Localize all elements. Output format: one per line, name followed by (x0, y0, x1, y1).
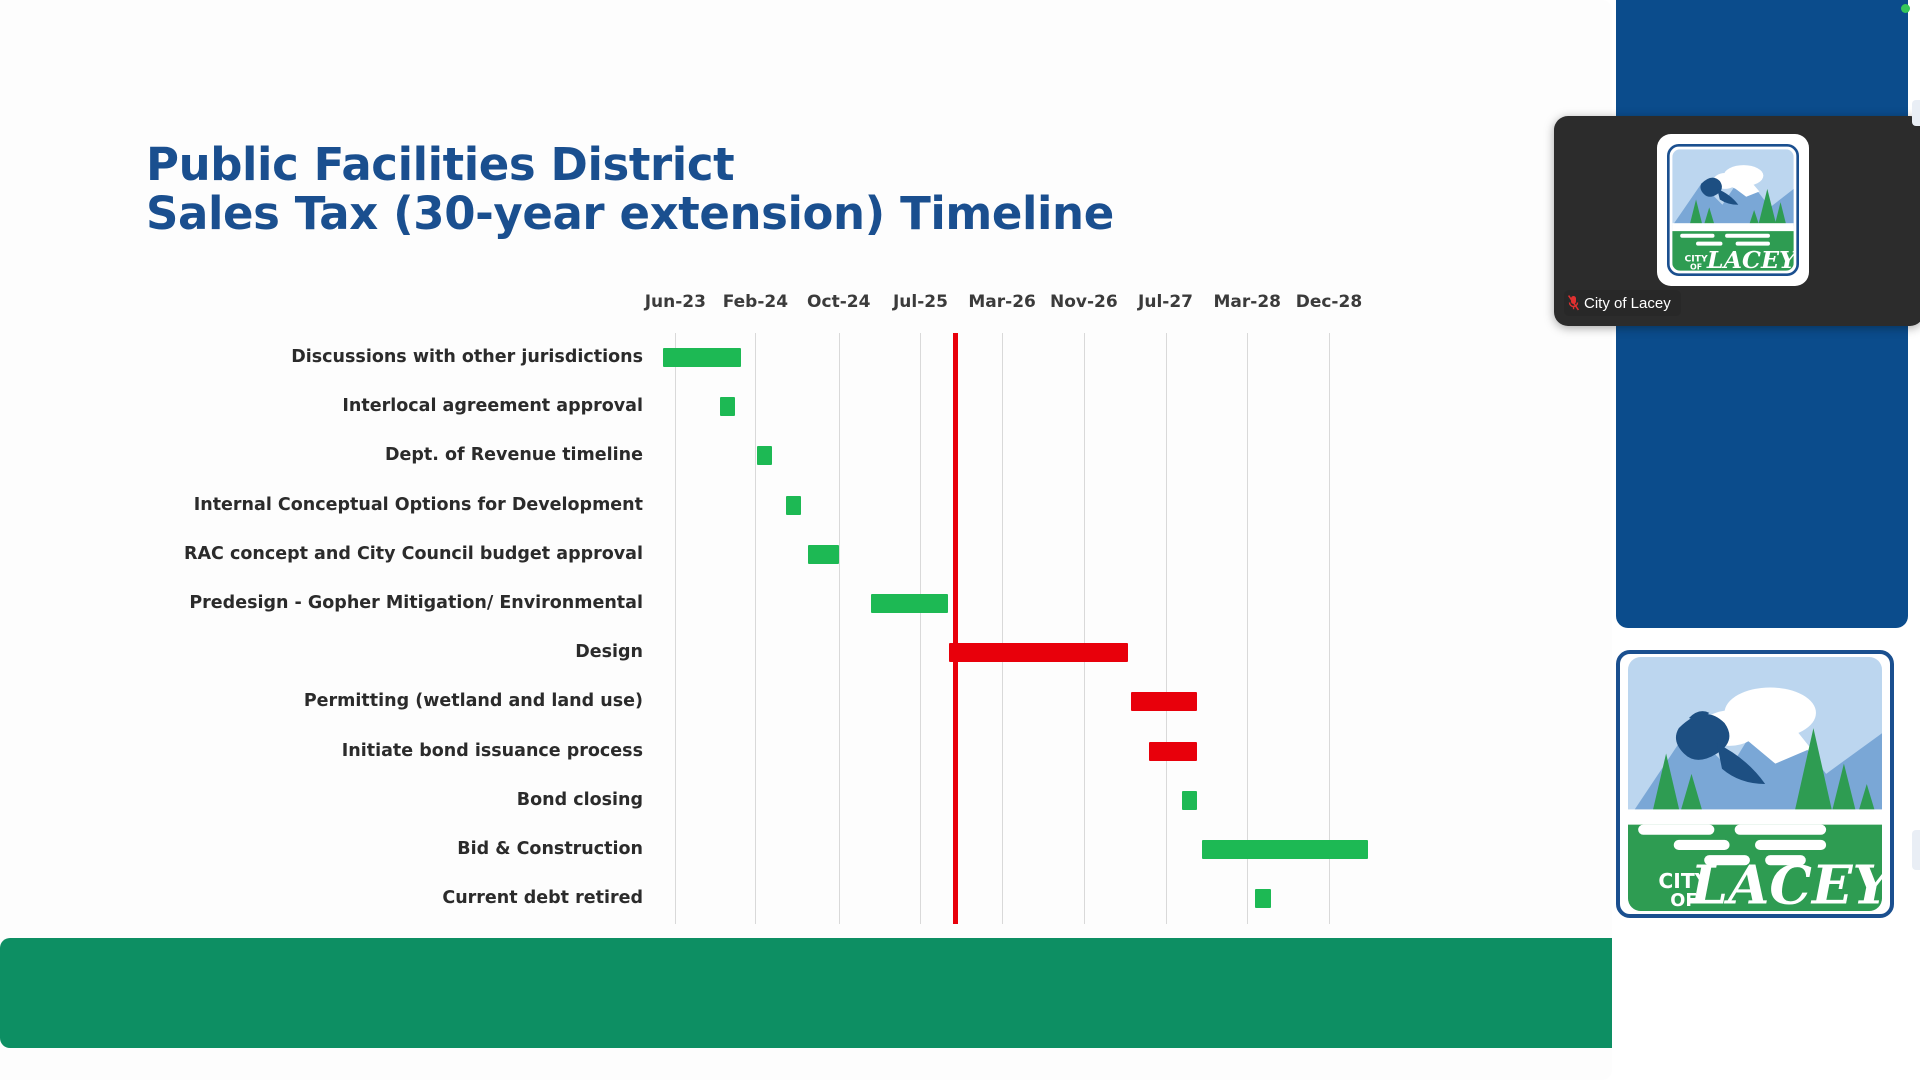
gantt-row (659, 628, 1476, 677)
gantt-row (659, 333, 1476, 382)
gantt-chart: Discussions with other jurisdictionsInte… (146, 286, 1476, 926)
participant-name-label: City of Lacey (1584, 295, 1671, 312)
gantt-axis-tick: Dec-28 (1296, 292, 1362, 312)
gantt-axis-tick: Jun-23 (645, 292, 706, 312)
right-edge-chip-top (1912, 100, 1920, 126)
svg-text:LACEY: LACEY (1706, 246, 1798, 274)
gantt-row (659, 825, 1476, 874)
gantt-bars-area (659, 333, 1476, 924)
gantt-task-label: Predesign - Gopher Mitigation/ Environme… (146, 579, 659, 628)
gantt-bar (757, 446, 772, 465)
gantt-row (659, 530, 1476, 579)
gantt-bar (949, 643, 1128, 662)
gantt-bar (1149, 742, 1196, 761)
video-participant-tile[interactable]: CITY OF LACEY City of Lacey (1554, 116, 1920, 326)
gantt-bar (871, 594, 948, 613)
status-indicator-dot (1901, 4, 1910, 13)
gantt-task-label: Bond closing (146, 776, 659, 825)
logo-text-lacey: LACEY (1689, 853, 1887, 911)
slide-title: Public Facilities District Sales Tax (30… (146, 140, 1266, 238)
gantt-bar (786, 496, 801, 515)
gantt-task-label: Current debt retired (146, 874, 659, 923)
gantt-bar (808, 545, 839, 564)
gantt-task-label: Permitting (wetland and land use) (146, 677, 659, 726)
gantt-row (659, 874, 1476, 923)
gantt-row (659, 481, 1476, 530)
gantt-task-label: Dept. of Revenue timeline (146, 431, 659, 480)
slide-footer-band (0, 938, 1612, 1048)
participant-name-plate: City of Lacey (1564, 290, 1681, 316)
right-edge-chip-bottom (1912, 830, 1920, 870)
gantt-task-label: Bid & Construction (146, 825, 659, 874)
gantt-axis-tick: Oct-24 (807, 292, 870, 312)
gantt-row (659, 431, 1476, 480)
gantt-bar (1255, 889, 1271, 908)
gantt-bar (663, 348, 741, 367)
city-of-lacey-logo: CITY OF LACEY (1616, 650, 1894, 918)
today-marker-line (953, 333, 958, 924)
microphone-muted-icon (1568, 295, 1579, 311)
gantt-task-label: Interlocal agreement approval (146, 382, 659, 431)
gantt-bar (1182, 791, 1198, 810)
gantt-bar (720, 397, 735, 416)
screen-share-view: Public Facilities District Sales Tax (30… (0, 0, 1920, 1080)
title-line-1: Public Facilities District (146, 140, 1266, 189)
gantt-axis-tick: Nov-26 (1050, 292, 1118, 312)
gantt-axis-tick: Feb-24 (723, 292, 788, 312)
gantt-bar (1202, 840, 1368, 859)
gantt-task-label: Design (146, 628, 659, 677)
gantt-row (659, 727, 1476, 776)
gantt-axis-tick: Mar-26 (968, 292, 1036, 312)
gantt-axis-tick: Mar-28 (1213, 292, 1281, 312)
city-of-lacey-logo-icon: CITY OF LACEY (1667, 144, 1799, 276)
gantt-row (659, 382, 1476, 431)
gantt-task-label-column: Discussions with other jurisdictionsInte… (146, 333, 659, 923)
gantt-axis-tick: Jul-25 (893, 292, 948, 312)
gantt-plot-area: Jun-23Feb-24Oct-24Jul-25Mar-26Nov-26Jul-… (659, 286, 1476, 926)
gantt-task-label: Initiate bond issuance process (146, 727, 659, 776)
gantt-task-label: Internal Conceptual Options for Developm… (146, 481, 659, 530)
svg-text:OF: OF (1690, 262, 1702, 271)
gantt-row (659, 579, 1476, 628)
gantt-x-axis: Jun-23Feb-24Oct-24Jul-25Mar-26Nov-26Jul-… (659, 286, 1476, 333)
gantt-task-label: Discussions with other jurisdictions (146, 333, 659, 382)
city-of-lacey-logo-large-icon: CITY OF LACEY (1623, 657, 1887, 911)
participant-avatar: CITY OF LACEY (1657, 134, 1809, 286)
gantt-task-label: RAC concept and City Council budget appr… (146, 530, 659, 579)
gantt-row (659, 677, 1476, 726)
gantt-axis-tick: Jul-27 (1138, 292, 1193, 312)
presentation-slide: Public Facilities District Sales Tax (30… (0, 0, 1612, 1080)
title-line-2: Sales Tax (30-year extension) Timeline (146, 189, 1266, 238)
gantt-bar (1131, 692, 1196, 711)
gantt-row (659, 776, 1476, 825)
